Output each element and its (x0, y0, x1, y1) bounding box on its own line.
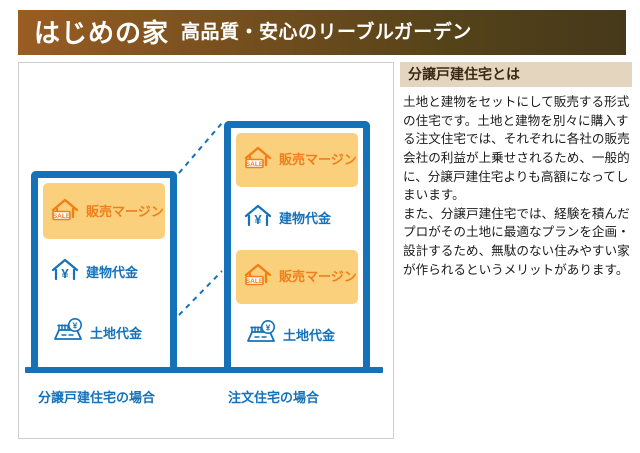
block-label: 土地代金 (90, 327, 142, 340)
house-sale-icon: SALE (242, 261, 274, 292)
land-yen-icon: ¥ (49, 317, 85, 350)
block-margin-chuumon-1: SALE 販売マージン (236, 133, 358, 187)
block-land-cost-bunjou: ¥ 土地代金 (43, 306, 165, 362)
block-building-cost-chuumon: ¥ 建物代金 (236, 192, 358, 246)
block-label: 販売マージン (279, 270, 357, 283)
block-label: 建物代金 (279, 212, 331, 225)
svg-text:¥: ¥ (73, 321, 78, 331)
caption-bunjou: 分譲戸建住宅の場合 (38, 391, 155, 404)
block-margin-bunjou-1: SALE 販売マージン (43, 183, 165, 239)
column-bunjou: SALE 販売マージン ¥ 建物代金 (31, 171, 177, 367)
house-sale-icon: SALE (242, 144, 274, 175)
land-yen-icon: ¥ (242, 319, 278, 352)
svg-text:¥: ¥ (266, 322, 271, 332)
svg-text:SALE: SALE (246, 161, 264, 168)
block-label: 販売マージン (279, 153, 357, 166)
diagram-panel: SALE 販売マージン ¥ 建物代金 (18, 62, 394, 439)
column-chuumon: SALE 販売マージン ¥ 建物代金 (224, 121, 370, 367)
caption-chuumon: 注文住宅の場合 (228, 391, 319, 404)
brand-tagline: 高品質・安心のリーブルガーデン (181, 23, 472, 42)
header-banner: はじめの家 高品質・安心のリーブルガーデン (18, 10, 626, 55)
svg-text:¥: ¥ (254, 212, 262, 227)
info-paragraph-1: 土地と建物をセットにして販売する形式の住宅です。土地と建物を別々に購入する注文住… (403, 93, 630, 205)
block-label: 販売マージン (86, 205, 164, 218)
house-sale-icon: SALE (49, 196, 81, 227)
diagram-baseline (25, 367, 383, 373)
svg-text:SALE: SALE (246, 278, 264, 285)
info-paragraph-2: また、分譲戸建住宅では、経験を積んだプロがその土地に最適なプランを企画・設計する… (403, 205, 630, 280)
diagram-stage: SALE 販売マージン ¥ 建物代金 (19, 63, 393, 438)
block-margin-chuumon-2: SALE 販売マージン (236, 250, 358, 304)
house-yen-icon: ¥ (49, 256, 81, 289)
block-building-cost-bunjou: ¥ 建物代金 (43, 244, 165, 300)
house-yen-icon: ¥ (242, 202, 274, 235)
info-body: 土地と建物をセットにして販売する形式の住宅です。土地と建物を別々に購入する注文住… (400, 87, 632, 279)
block-label: 土地代金 (283, 329, 335, 342)
block-land-cost-chuumon: ¥ 土地代金 (236, 309, 358, 363)
brand-title: はじめの家 (34, 20, 169, 46)
info-panel: 分譲戸建住宅とは 土地と建物をセットにして販売する形式の住宅です。土地と建物を別… (400, 62, 632, 279)
info-heading: 分譲戸建住宅とは (400, 62, 632, 87)
svg-text:¥: ¥ (61, 266, 69, 281)
block-label: 建物代金 (86, 266, 138, 279)
svg-text:SALE: SALE (53, 212, 71, 219)
